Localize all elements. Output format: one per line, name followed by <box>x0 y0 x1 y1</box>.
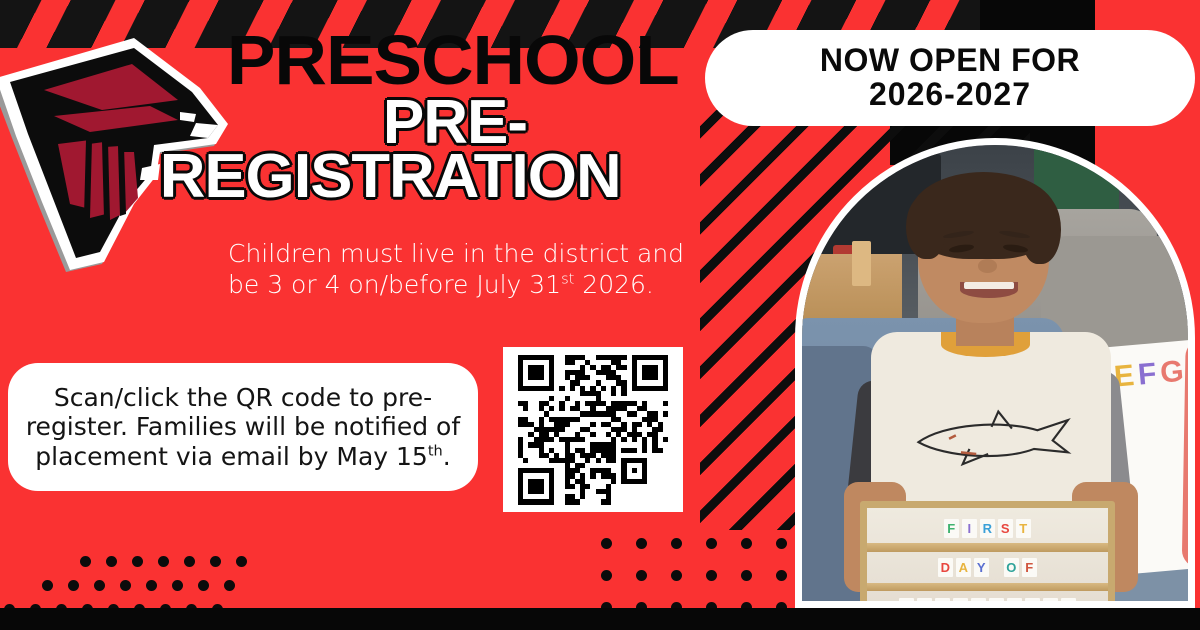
dot-grid-right <box>595 530 825 610</box>
callout-text-part2: . <box>443 442 451 471</box>
callout-text: Scan/click the QR code to pre-register. … <box>24 383 462 472</box>
badge-line-1: NOW OPEN FOR <box>820 44 1080 78</box>
subtitle-superscript: st <box>561 272 574 288</box>
now-open-badge: NOW OPEN FOR 2026-2027 <box>705 30 1195 126</box>
qr-code[interactable] <box>503 347 683 512</box>
callout-text-part1: Scan/click the QR code to pre-register. … <box>26 383 460 471</box>
callout-superscript: th <box>428 443 443 459</box>
dot-grid-left <box>0 556 210 610</box>
shark-graphic <box>910 400 1080 478</box>
letter-board: FIRST DAYOF PRESCHOOL! <box>860 501 1115 601</box>
letter-board-row-3: PRESCHOOL! <box>867 589 1108 601</box>
letter-board-row-2: DAYOF <box>867 549 1108 586</box>
eligibility-subtitle: Children must live in the district and b… <box>228 238 708 300</box>
qr-code-matrix[interactable] <box>518 355 668 505</box>
flyer-canvas: PRESCHOOL PRE- REGISTRATION Children mus… <box>0 0 1200 630</box>
qr-instructions-callout: Scan/click the QR code to pre-register. … <box>8 363 478 491</box>
badge-line-2: 2026-2027 <box>869 78 1031 112</box>
falcons-logo <box>0 28 250 276</box>
bottom-black-bar <box>0 608 1200 630</box>
subtitle-text-part2: 2026. <box>574 270 654 299</box>
letter-board-row-1: FIRST <box>867 510 1108 547</box>
student-photo: BCDEFG MNO TUV <box>795 138 1195 608</box>
